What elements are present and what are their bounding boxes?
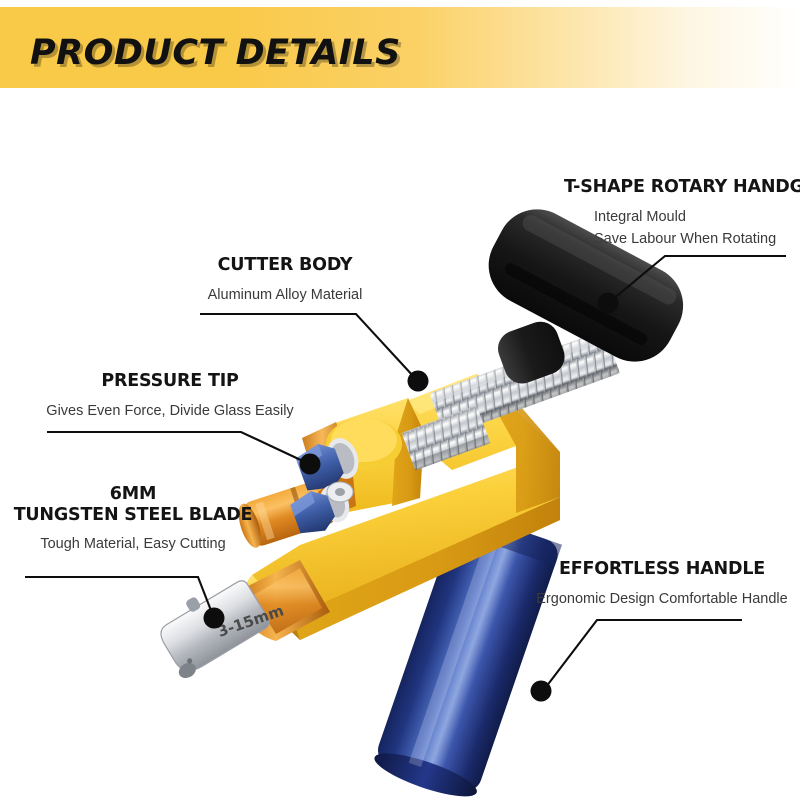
callout-line-tough-material: Tough Material, Easy Cutting [12,533,254,555]
callout-title-effortless-handle: EFFORTLESS HANDLE [528,559,796,580]
callout-title-pressure-tip: PRESSURE TIP [42,371,298,392]
callout-title-cutter-body: CUTTER BODY [195,255,375,276]
callout-dot-t-shape-rotary-handgrip [598,293,619,314]
callout-dot-cutter-body [408,371,429,392]
callout-t-shape-rotary-handgrip: T-SHAPE ROTARY HANDGRIP Integral Mould S… [564,177,800,251]
product-details-infographic: PRODUCT DETAILS [0,0,800,800]
leader-pressure-tip [47,432,321,475]
callout-cutter-body: CUTTER BODY Aluminum Alloy Material [195,255,375,306]
callout-dot-effortless-handle [531,681,552,702]
callout-dot-pressure-tip [300,454,321,475]
callout-line-ergonomic-design: Ergonomic Design Comfortable Handle [528,588,796,610]
leader-effortless-handle [531,620,743,702]
callout-title-blade-size: 6MM [12,484,254,505]
callout-tungsten-steel-blade: 6MM TUNGSTEN STEEL BLADE Tough Material,… [12,484,254,556]
leader-tungsten-steel-blade [25,577,225,629]
callout-dot-tungsten-steel-blade [204,608,225,629]
callout-line-save-labour: Save Labour When Rotating [594,228,800,250]
callout-line-aluminum-alloy: Aluminum Alloy Material [195,284,375,306]
callout-effortless-handle: EFFORTLESS HANDLE Ergonomic Design Comfo… [528,559,796,610]
callout-pressure-tip: PRESSURE TIP Gives Even Force, Divide Gl… [42,371,298,422]
leader-t-shape-rotary-handgrip [598,256,787,314]
callout-line-even-force: Gives Even Force, Divide Glass Easily [42,400,298,422]
callout-title-t-shape-rotary-handgrip: T-SHAPE ROTARY HANDGRIP [564,177,800,198]
callout-title-tungsten-steel-blade: TUNGSTEN STEEL BLADE [12,505,254,526]
callout-line-integral-mould: Integral Mould [594,206,800,228]
